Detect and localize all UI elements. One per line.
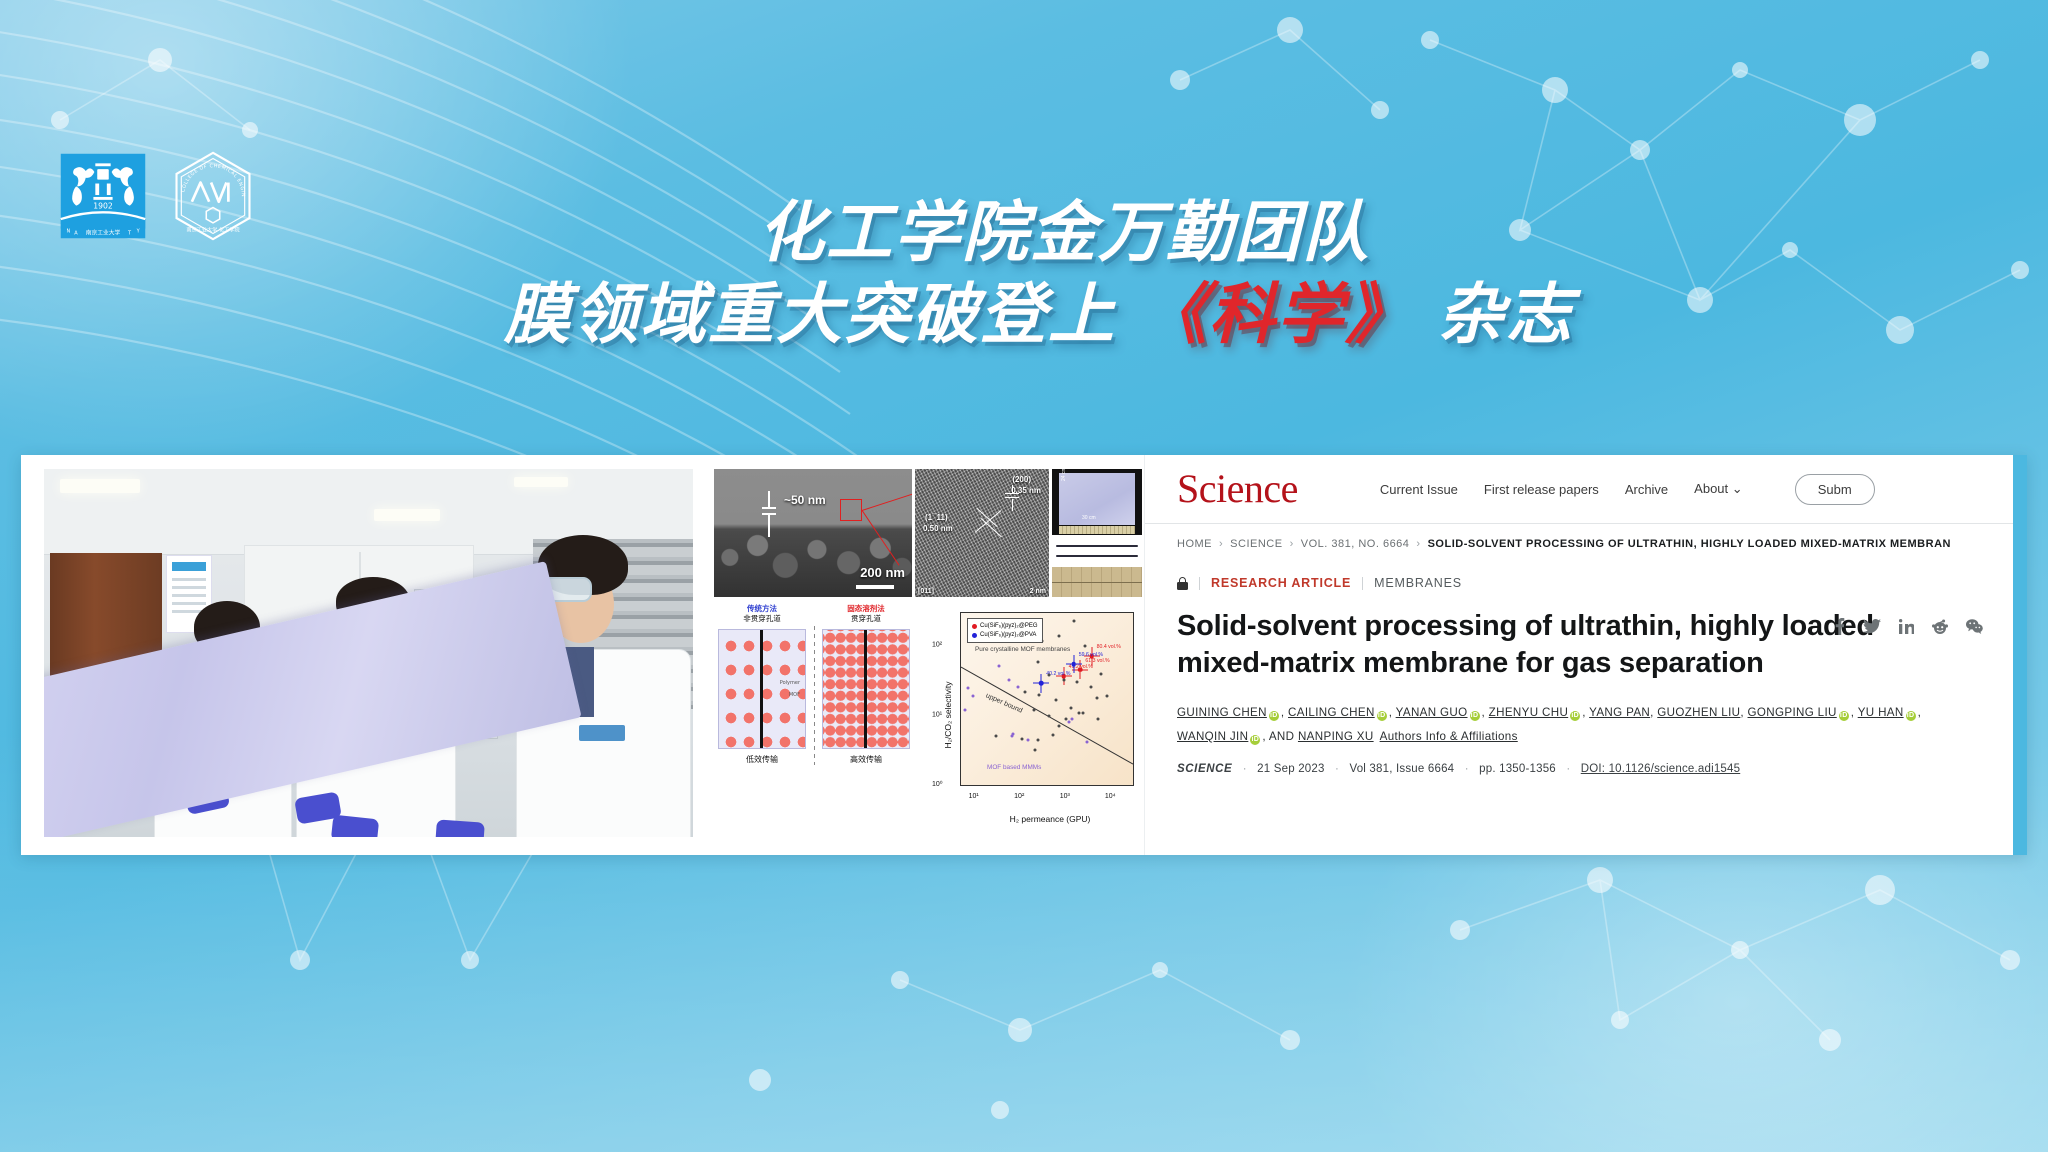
schematic-left-title: 传统方法: [718, 604, 806, 614]
chart-data-point: [1047, 714, 1050, 717]
divider-1: [1199, 577, 1200, 590]
schematic-solid-solvent: 固态溶剂法 贯穿孔道 高效传输: [822, 604, 910, 765]
ruler-photo: [1052, 567, 1142, 597]
hrtem-scale-label: 2 nm: [1030, 588, 1046, 595]
legend-marker-icon: [972, 624, 977, 629]
sem-scale-label: 200 nm: [860, 565, 905, 580]
author-link[interactable]: YANAN GUO: [1396, 706, 1468, 719]
article-type-label: RESEARCH ARTICLE: [1211, 576, 1351, 590]
headline-line-2-part-a: 膜领域重大突破登上: [504, 276, 1116, 353]
chart-data-point: [1097, 717, 1100, 720]
author-link[interactable]: GUOZHEN LIU: [1657, 706, 1740, 719]
schematic-left-caption: 低效传输: [718, 754, 806, 765]
legend-label: Cu(SiF₆)(pyz)₂@PEG: [980, 622, 1038, 631]
chart-data-point: [1038, 693, 1041, 696]
chevron-down-icon: ⌄: [1732, 481, 1743, 496]
chart-data-point: [1105, 695, 1108, 698]
orcid-icon[interactable]: iD: [1470, 711, 1480, 721]
chart-data-point: [1033, 748, 1036, 751]
breadcrumb-home[interactable]: HOME: [1177, 538, 1212, 550]
sem-zoom-region-box: [840, 499, 862, 521]
divider-2: [1362, 577, 1363, 590]
twitter-icon[interactable]: [1863, 619, 1881, 634]
chart-data-point: [1069, 706, 1072, 709]
chart-data-point: [1021, 737, 1024, 740]
breadcrumb-separator-2: ›: [1290, 538, 1294, 550]
chart-data-point: [1057, 725, 1060, 728]
orcid-icon[interactable]: iD: [1269, 711, 1279, 721]
breadcrumb: HOME › SCIENCE › VOL. 381, NO. 6664 › SO…: [1145, 524, 2027, 550]
page-right-edge: [2013, 455, 2027, 855]
breadcrumb-separator-1: ›: [1219, 538, 1223, 550]
performance-scatter-chart: Cu(SiF₆)(pyz)₂@PEGCu(SiF₆)(pyz)₂@PVA upp…: [918, 604, 1140, 826]
chart-data-point: [995, 735, 998, 738]
chart-data-point: [997, 664, 1000, 667]
article-meta: SCIENCE · 21 Sep 2023 · Vol 381, Issue 6…: [1177, 763, 2027, 775]
schematic-right-subtitle: 贯穿孔道: [822, 614, 910, 624]
large-membrane-photo: 24 cm 30 cm: [1052, 469, 1142, 535]
hrtem-spacing-111-label: 0.50 nm: [923, 524, 953, 533]
author-separator: ,: [1389, 706, 1396, 719]
social-share-icons: [1834, 618, 1983, 635]
chart-data-point: [1071, 662, 1076, 667]
team-photo: [44, 469, 693, 837]
chart-data-point: [1017, 685, 1020, 688]
chart-data-point: [1068, 721, 1071, 724]
sem-cross-section-image: ~50 nm 200 nm: [714, 469, 912, 597]
chart-x-tick: 10⁴: [1105, 793, 1116, 800]
chart-legend-item: Cu(SiF₆)(pyz)₂@PVA: [972, 631, 1038, 640]
annotation-mof-mmms: MOF based MMMs: [987, 764, 1041, 771]
chart-data-point: [1076, 681, 1079, 684]
chart-data-point: [1051, 734, 1054, 737]
article-topic-label[interactable]: MEMBRANES: [1374, 576, 1462, 590]
schematic-divider: [814, 626, 815, 765]
headline-line-1: 化工学院金万勤团队: [0, 196, 2048, 270]
chart-data-point: [1008, 679, 1011, 682]
chart-data-point: [1024, 690, 1027, 693]
nav-about[interactable]: About ⌄: [1694, 481, 1743, 497]
chart-data-point: [1036, 660, 1039, 663]
chart-data-point: [1037, 739, 1040, 742]
author-link[interactable]: GUINING CHEN: [1177, 706, 1267, 719]
schematic-polymer-label: Polymer: [780, 680, 800, 686]
author-separator: ,: [1281, 706, 1288, 719]
page-title: 化工学院金万勤团队 膜领域重大突破登上 《科学》 杂志: [0, 196, 2048, 352]
facebook-icon[interactable]: [1834, 618, 1845, 635]
science-logo[interactable]: Science: [1177, 469, 1298, 509]
chart-data-point: [1078, 711, 1081, 714]
chart-x-tick: 10¹: [969, 793, 979, 800]
author-separator: ,: [1482, 706, 1489, 719]
membrane-width-label: 30 cm: [1082, 515, 1096, 521]
science-article-screenshot: Science Current Issue First release pape…: [1144, 455, 2027, 855]
chart-data-point: [1082, 711, 1085, 714]
breadcrumb-science[interactable]: SCIENCE: [1230, 538, 1282, 550]
chart-data-point: [1064, 717, 1067, 720]
chart-data-point: [1095, 696, 1098, 699]
wechat-icon[interactable]: [1966, 619, 1983, 634]
science-nav: Current Issue First release papers Archi…: [1380, 474, 1875, 505]
chart-data-point: [1027, 738, 1030, 741]
chart-x-tick: 10³: [1060, 793, 1070, 800]
content-card: ~50 nm 200 nm (200) 0.35 nm: [21, 455, 2027, 855]
annotation-pure-mof: Pure crystalline MOF membranes: [975, 646, 1070, 653]
article-title: Solid-solvent processing of ultrathin, h…: [1177, 608, 1937, 681]
headline-line-2-part-b: 杂志: [1438, 276, 1574, 353]
chart-x-axis-label: H₂ permeance (GPU): [960, 814, 1140, 824]
chart-data-point: [963, 709, 966, 712]
chart-data-point: [1057, 634, 1060, 637]
author-link[interactable]: NANPING XU: [1298, 730, 1374, 743]
orcid-icon[interactable]: iD: [1839, 711, 1849, 721]
chart-data-point: [971, 695, 974, 698]
author-separator: ,: [1851, 706, 1858, 719]
meta-volume: Vol 381, Issue 6664: [1349, 763, 1454, 775]
meta-dot-1: ·: [1243, 763, 1247, 775]
chart-x-tick: 10²: [1014, 793, 1024, 800]
author-separator: ,: [1740, 706, 1747, 719]
author-link[interactable]: WANQIN JIN: [1177, 730, 1248, 743]
lock-icon: [1177, 577, 1188, 590]
banner-poster: 1902 NA TY 南京工业大学: [0, 0, 2048, 1152]
sem-thickness-label: ~50 nm: [784, 493, 826, 507]
meta-dot-4: ·: [1566, 763, 1570, 775]
author-link[interactable]: ZHENYU CHU: [1489, 706, 1569, 719]
authors-and: AND: [1266, 730, 1298, 743]
chart-y-tick: 10⁰: [932, 780, 943, 788]
reddit-icon[interactable]: [1932, 619, 1948, 634]
author-link[interactable]: YANG PAN: [1589, 706, 1650, 719]
chart-legend-item: Cu(SiF₆)(pyz)₂@PEG: [972, 622, 1038, 631]
chart-data-point: [966, 686, 969, 689]
headline-line-2-journal: 《科学》: [1141, 276, 1413, 353]
chart-data-point: [1011, 735, 1014, 738]
chart-y-tick: 10¹: [932, 711, 942, 718]
chart-data-point: [1078, 667, 1083, 672]
meta-dot-3: ·: [1465, 763, 1469, 775]
nav-first-release-papers[interactable]: First release papers: [1484, 482, 1599, 497]
schematic-right-title: 固态溶剂法: [822, 604, 910, 614]
chart-data-point: [1083, 645, 1086, 648]
headline-line-1-text: 化工学院金万勤团队: [758, 194, 1370, 271]
legend-marker-icon: [972, 633, 977, 638]
article-type-bar: RESEARCH ARTICLE MEMBRANES: [1177, 576, 2027, 590]
schematic-conventional: 传统方法 非贯穿孔道 Polymer MOF 低效传输: [718, 604, 806, 765]
meta-dot-2: ·: [1335, 763, 1339, 775]
meta-pages: pp. 1350-1356: [1479, 763, 1556, 775]
orcid-icon[interactable]: iD: [1570, 711, 1580, 721]
breadcrumb-current-article: SOLID-SOLVENT PROCESSING OF ULTRATHIN, H…: [1428, 538, 1951, 550]
chart-y-tick: 10²: [932, 642, 942, 649]
meta-date: 21 Sep 2023: [1257, 763, 1324, 775]
figure-panel: ~50 nm 200 nm (200) 0.35 nm: [714, 469, 1144, 837]
submit-button[interactable]: Subm: [1795, 474, 1875, 505]
nav-archive[interactable]: Archive: [1625, 482, 1668, 497]
hrtem-lattice-image: (200) 0.35 nm (1¯11) 0.50 nm [011] 2 nm: [915, 469, 1049, 597]
membrane-height-label: 24 cm: [1061, 467, 1067, 481]
schematic-left-subtitle: 非贯穿孔道: [718, 614, 806, 624]
chart-data-point: [1048, 674, 1051, 677]
nav-current-issue[interactable]: Current Issue: [1380, 482, 1458, 497]
membrane-photographs-strip: 24 cm 30 cm: [1052, 469, 1142, 597]
author-separator: ,: [1918, 706, 1922, 719]
breadcrumb-separator-3: ›: [1416, 538, 1420, 550]
hrtem-plane-111-label: (1¯11): [925, 513, 948, 522]
orcid-icon[interactable]: iD: [1906, 711, 1916, 721]
hrtem-zone-axis-label: [011]: [918, 588, 934, 595]
chart-data-point: [1089, 685, 1092, 688]
author-link[interactable]: GONGPING LIU: [1748, 706, 1837, 719]
author-link[interactable]: CAILING CHEN: [1288, 706, 1375, 719]
schematic-right-caption: 高效传输: [822, 754, 910, 765]
transport-schematic: 传统方法 非贯穿孔道 Polymer MOF 低效传输: [714, 604, 914, 826]
meta-journal: SCIENCE: [1177, 763, 1232, 775]
schematic-mof-label: MOF: [789, 692, 800, 698]
chart-data-point: [1070, 717, 1073, 720]
breadcrumb-volume[interactable]: VOL. 381, NO. 6664: [1301, 538, 1410, 550]
chart-data-point: [1062, 678, 1065, 681]
chart-data-point: [1086, 740, 1089, 743]
chart-data-point: [1072, 620, 1075, 623]
chart-point-label: 80.4 vol.%: [1097, 644, 1121, 650]
headline-line-2: 膜领域重大突破登上 《科学》 杂志: [0, 278, 2048, 352]
chart-data-point: [1039, 681, 1044, 686]
linkedin-icon[interactable]: [1899, 619, 1914, 634]
chart-data-point: [1055, 698, 1058, 701]
hrtem-plane-200-label: (200): [1012, 475, 1031, 484]
author-link[interactable]: YU HAN: [1858, 706, 1904, 719]
chart-y-axis-label: H₂/CO₂ selectivity: [943, 640, 953, 790]
orcid-icon[interactable]: iD: [1250, 735, 1260, 745]
nav-about-label: About: [1694, 481, 1728, 496]
authors-info-affiliations-link[interactable]: Authors Info & Affiliations: [1380, 730, 1518, 743]
chart-data-point: [1032, 709, 1035, 712]
legend-label: Cu(SiF₆)(pyz)₂@PVA: [980, 631, 1036, 640]
orcid-icon[interactable]: iD: [1377, 711, 1387, 721]
membrane-edge-photo: [1052, 538, 1142, 564]
chart-legend: Cu(SiF₆)(pyz)₂@PEGCu(SiF₆)(pyz)₂@PVA: [967, 618, 1043, 643]
chart-data-point: [1100, 672, 1103, 675]
meta-doi-link[interactable]: DOI: 10.1126/science.adi1545: [1581, 763, 1740, 775]
chart-plot-area: Cu(SiF₆)(pyz)₂@PEGCu(SiF₆)(pyz)₂@PVA upp…: [960, 612, 1134, 786]
author-list: GUINING CHENiD, CAILING CHENiD, YANAN GU…: [1177, 701, 1947, 749]
chart-point-label: 59.6 vol.%: [1079, 652, 1103, 658]
